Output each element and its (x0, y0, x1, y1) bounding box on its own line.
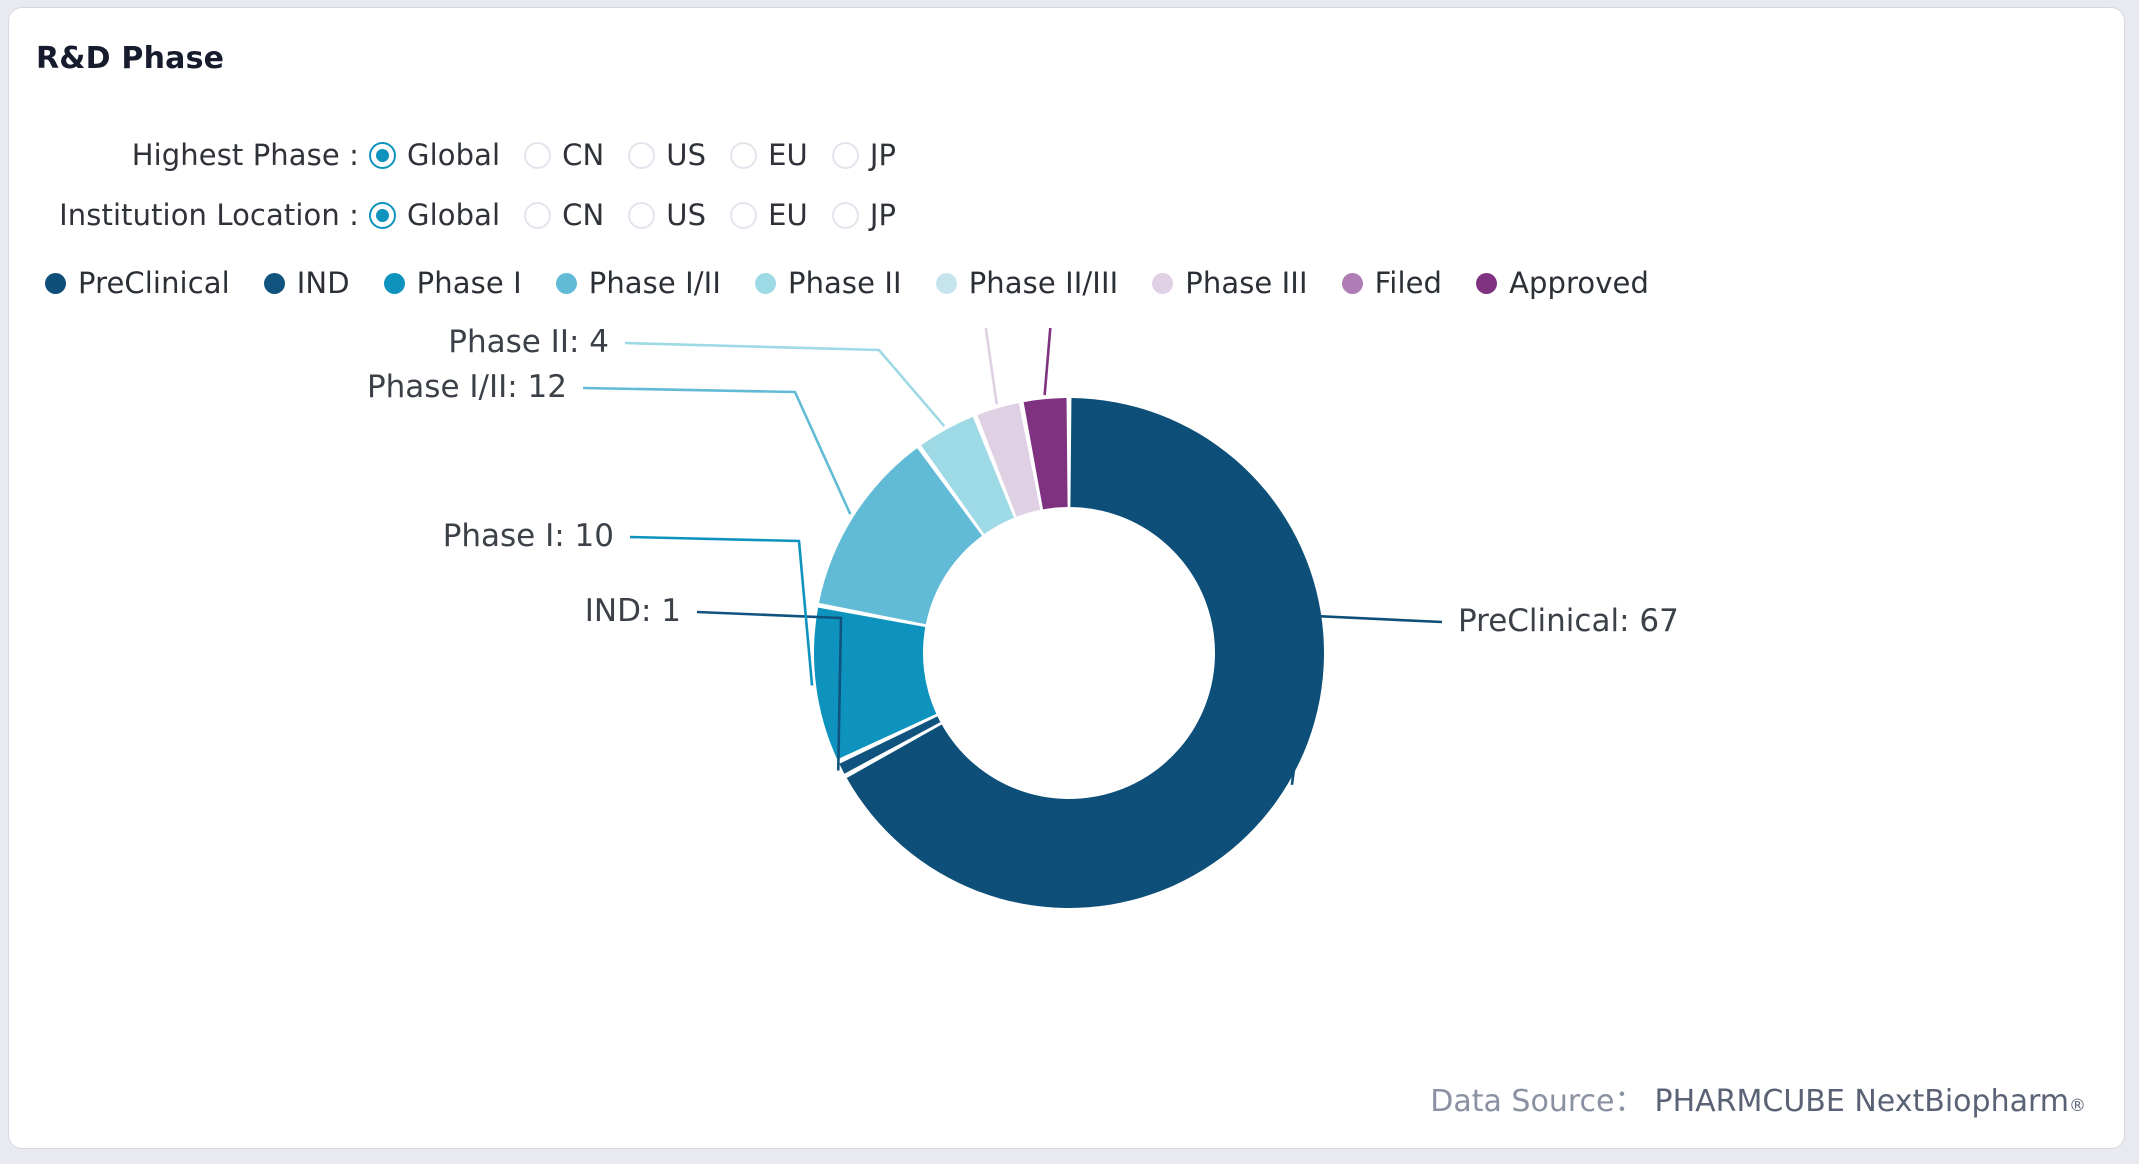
legend-swatch-icon (1476, 273, 1497, 294)
radio-label: JP (870, 198, 896, 232)
radio-label: US (666, 138, 706, 172)
donut-chart-svg: PreClinical: 67IND: 1Phase I: 10Phase I/… (9, 328, 2125, 1018)
legend-item-approved[interactable]: Approved (1476, 266, 1649, 300)
radio-highest-phase-eu[interactable]: EU (730, 138, 808, 172)
legend-swatch-icon (1342, 273, 1363, 294)
radio-label: JP (870, 138, 896, 172)
legend-swatch-icon (45, 273, 66, 294)
radio-label: Global (407, 138, 500, 172)
legend-item-phase-ii[interactable]: Phase II (755, 266, 902, 300)
donut-label-text: PreClinical: 67 (1458, 603, 1679, 639)
radio-empty-icon[interactable] (832, 142, 859, 169)
filter-row-institution-location: Institution Location : Global CN US EU J… (9, 195, 1109, 235)
legend-item-label: Phase I/II (589, 266, 721, 300)
donut-label-text: Phase I: 10 (443, 518, 614, 554)
legend-swatch-icon (755, 273, 776, 294)
legend-item-preclinical[interactable]: PreClinical (45, 266, 230, 300)
leader-line (742, 328, 1054, 395)
legend-item-label: PreClinical (78, 266, 230, 300)
radio-empty-icon[interactable] (832, 202, 859, 229)
chart-legend: PreClinicalINDPhase IPhase I/IIPhase IIP… (45, 266, 1683, 300)
radio-empty-icon[interactable] (730, 142, 757, 169)
legend-item-label: Approved (1509, 266, 1649, 300)
legend-swatch-icon (556, 273, 577, 294)
radio-institution-location-us[interactable]: US (628, 198, 706, 232)
legend-item-phase-ii-iii[interactable]: Phase II/III (936, 266, 1119, 300)
radio-label: CN (562, 138, 604, 172)
radio-empty-icon[interactable] (628, 202, 655, 229)
rd-phase-card: R&D Phase Highest Phase : Global CN US E… (8, 7, 2125, 1149)
legend-swatch-icon (1152, 273, 1173, 294)
radio-label: CN (562, 198, 604, 232)
legend-item-label: Phase III (1185, 266, 1307, 300)
donut-slice-phase-i[interactable] (814, 608, 936, 760)
donut-label-ind: IND: 1 (585, 593, 841, 771)
legend-item-phase-i-ii[interactable]: Phase I/II (556, 266, 721, 300)
legend-swatch-icon (264, 273, 285, 294)
donut-label-preclinical: PreClinical: 67 (1292, 603, 1679, 785)
page-title: R&D Phase (36, 41, 224, 76)
radio-highest-phase-us[interactable]: US (628, 138, 706, 172)
radio-label: EU (768, 138, 808, 172)
legend-swatch-icon (384, 273, 405, 294)
registered-trademark-icon: ® (2069, 1096, 2086, 1116)
leader-line (583, 388, 850, 514)
legend-item-label: Phase I (417, 266, 522, 300)
radio-institution-location-eu[interactable]: EU (730, 198, 808, 232)
radio-selected-icon[interactable] (369, 142, 396, 169)
radio-highest-phase-global[interactable]: Global (369, 138, 500, 172)
data-source-label: Data Source： (1430, 1076, 1644, 1120)
donut-label-text: Phase I/II: 12 (367, 369, 567, 405)
radio-empty-icon[interactable] (730, 202, 757, 229)
legend-item-label: Phase II/III (969, 266, 1119, 300)
legend-item-phase-i[interactable]: Phase I (384, 266, 522, 300)
radio-institution-location-global[interactable]: Global (369, 198, 500, 232)
donut-chart: PreClinical: 67IND: 1Phase I: 10Phase I/… (9, 328, 2125, 1018)
legend-item-phase-iii[interactable]: Phase III (1152, 266, 1307, 300)
radio-highest-phase-cn[interactable]: CN (524, 138, 604, 172)
radio-empty-icon[interactable] (628, 142, 655, 169)
filter-label-highest-phase: Highest Phase : (9, 138, 369, 172)
leader-line (663, 328, 997, 404)
leader-line (625, 343, 944, 426)
donut-label-text: Phase II: 4 (448, 328, 609, 360)
radio-empty-icon[interactable] (524, 202, 551, 229)
legend-item-label: Phase II (788, 266, 902, 300)
donut-label-phase-i-ii: Phase I/II: 12 (367, 369, 850, 514)
legend-item-ind[interactable]: IND (264, 266, 350, 300)
radio-institution-location-cn[interactable]: CN (524, 198, 604, 232)
radio-institution-location-jp[interactable]: JP (832, 198, 896, 232)
legend-swatch-icon (936, 273, 957, 294)
radio-selected-icon[interactable] (369, 202, 396, 229)
radio-highest-phase-jp[interactable]: JP (832, 138, 896, 172)
radio-label: Global (407, 198, 500, 232)
data-source-name: PHARMCUBE NextBiopharm (1654, 1084, 2069, 1119)
legend-item-label: IND (297, 266, 350, 300)
filter-row-highest-phase: Highest Phase : Global CN US EU JP (9, 135, 1109, 175)
donut-label-approved: Approved: 3 (537, 328, 1054, 395)
filter-label-institution-location: Institution Location : (9, 198, 369, 232)
radio-label: US (666, 198, 706, 232)
radio-empty-icon[interactable] (524, 142, 551, 169)
legend-item-filed[interactable]: Filed (1342, 266, 1442, 300)
radio-label: EU (768, 198, 808, 232)
donut-label-text: IND: 1 (585, 593, 681, 629)
legend-item-label: Filed (1375, 266, 1442, 300)
data-source-footer: Data Source： PHARMCUBE NextBiopharm ® (1430, 1076, 2086, 1120)
